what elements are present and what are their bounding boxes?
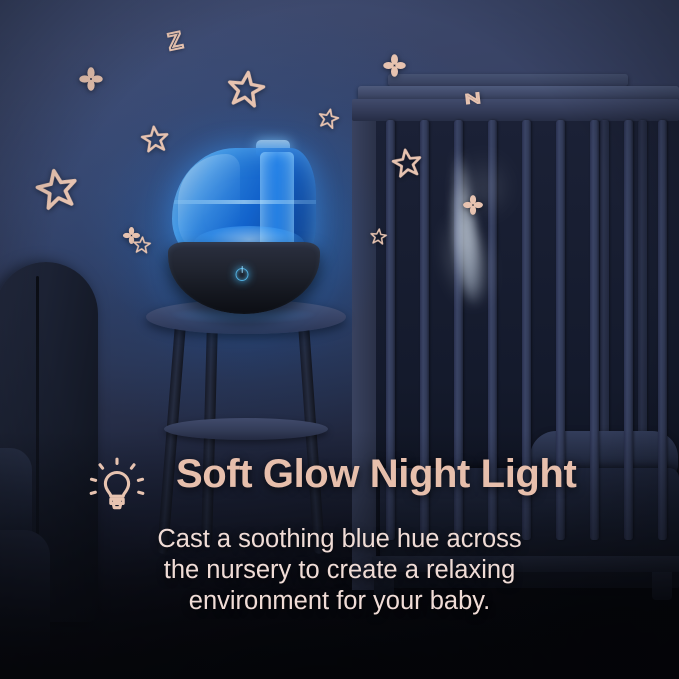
caption-body: Cast a soothing blue hue across the nurs…: [0, 524, 679, 617]
table-lower-shelf: [164, 418, 328, 440]
crib-back-rail: [388, 74, 628, 86]
nursery-night-scene: ZZ: [0, 0, 679, 679]
page-title: Soft Glow Night Light: [176, 452, 576, 497]
caption-line: the nursery to create a relaxing: [110, 555, 569, 586]
caption-block: Soft Glow Night Light Cast a soothing bl…: [0, 452, 679, 617]
crib-slat: [638, 120, 647, 450]
lightbulb-icon: [86, 456, 148, 518]
crib-head-rail: [352, 99, 679, 121]
caption-line: environment for your baby.: [110, 586, 569, 617]
power-icon[interactable]: [236, 268, 249, 281]
crib-slat: [600, 120, 609, 450]
tank-waterline: [172, 200, 316, 204]
caption-line: Cast a soothing blue hue across: [110, 524, 569, 555]
cool-mist-humidifier[interactable]: [168, 148, 316, 308]
